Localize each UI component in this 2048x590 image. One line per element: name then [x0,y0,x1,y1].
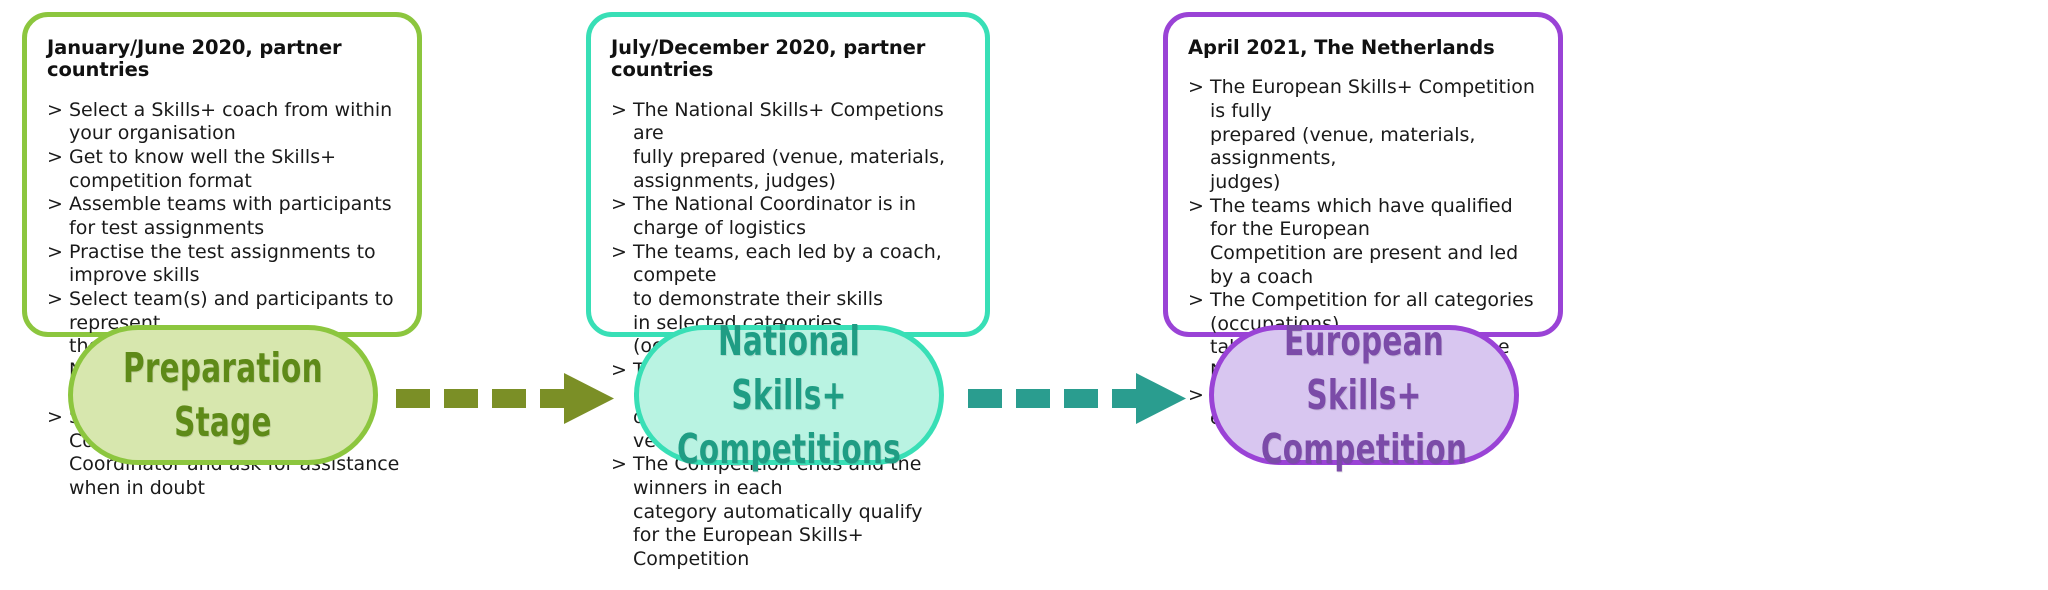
list-item-text: Practise the test assignments to improve… [69,241,376,287]
stage-card-european: April 2021, The Netherlands >The Europea… [1163,12,1563,337]
chevron-right-icon: > [611,241,627,265]
chevron-right-icon: > [47,288,63,312]
stage-pill-label-preparation: Preparation Stage [123,341,323,449]
stage-pill-national[interactable]: National Skills+ Competitions [634,325,944,465]
list-item: >Select a Skills+ coach from within your… [47,99,401,146]
list-item-text: Select a Skills+ coach from within your … [69,99,392,145]
stage-pill-label-european: European Skills+ Competition [1244,314,1484,476]
list-item-text: Get to know well the Skills+ competition… [69,146,336,192]
chevron-right-icon: > [1188,76,1204,100]
stage-card-national: July/December 2020, partner countries >T… [586,12,990,337]
connector-arrow-national-to-european [968,370,1198,430]
chevron-right-icon: > [47,99,63,123]
list-item: >The National Coordinator is in charge o… [611,193,969,240]
list-item: >Practise the test assignments to improv… [47,241,401,288]
list-item: >The European Skills+ Competition is ful… [1188,76,1542,194]
chevron-right-icon: > [611,193,627,217]
list-item: >Get to know well the Skills+ competitio… [47,146,401,193]
list-item-text: The teams which have qualified for the E… [1210,195,1518,288]
list-item: >The National Skills+ Competions are ful… [611,99,969,194]
stage-pill-european[interactable]: European Skills+ Competition [1209,325,1519,465]
list-item-text: The National Coordinator is in charge of… [633,193,916,239]
list-item-text: Assemble teams with participants for tes… [69,193,392,239]
stage-pill-preparation[interactable]: Preparation Stage [68,325,378,465]
card-title-european: April 2021, The Netherlands [1188,37,1542,59]
chevron-right-icon: > [47,406,63,430]
chevron-right-icon: > [1188,289,1204,313]
list-item: >Assemble teams with participants for te… [47,193,401,240]
stage-pill-label-national: National Skills+ Competitions [669,314,909,476]
list-item: >The teams which have qualified for the … [1188,195,1542,290]
connector-arrow-preparation-to-national [396,370,626,430]
chevron-right-icon: > [611,99,627,123]
chevron-right-icon: > [1188,195,1204,219]
list-item-text: The National Skills+ Competions are full… [633,99,945,192]
chevron-right-icon: > [611,453,627,477]
diagram-canvas: January/June 2020, partner countries >Se… [0,0,2048,590]
card-title-national: July/December 2020, partner countries [611,37,969,82]
stage-card-preparation: January/June 2020, partner countries >Se… [22,12,422,337]
chevron-right-icon: > [47,193,63,217]
card-title-preparation: January/June 2020, partner countries [47,37,401,82]
chevron-right-icon: > [47,241,63,265]
list-item-text: The European Skills+ Competition is full… [1210,76,1535,193]
chevron-right-icon: > [47,146,63,170]
